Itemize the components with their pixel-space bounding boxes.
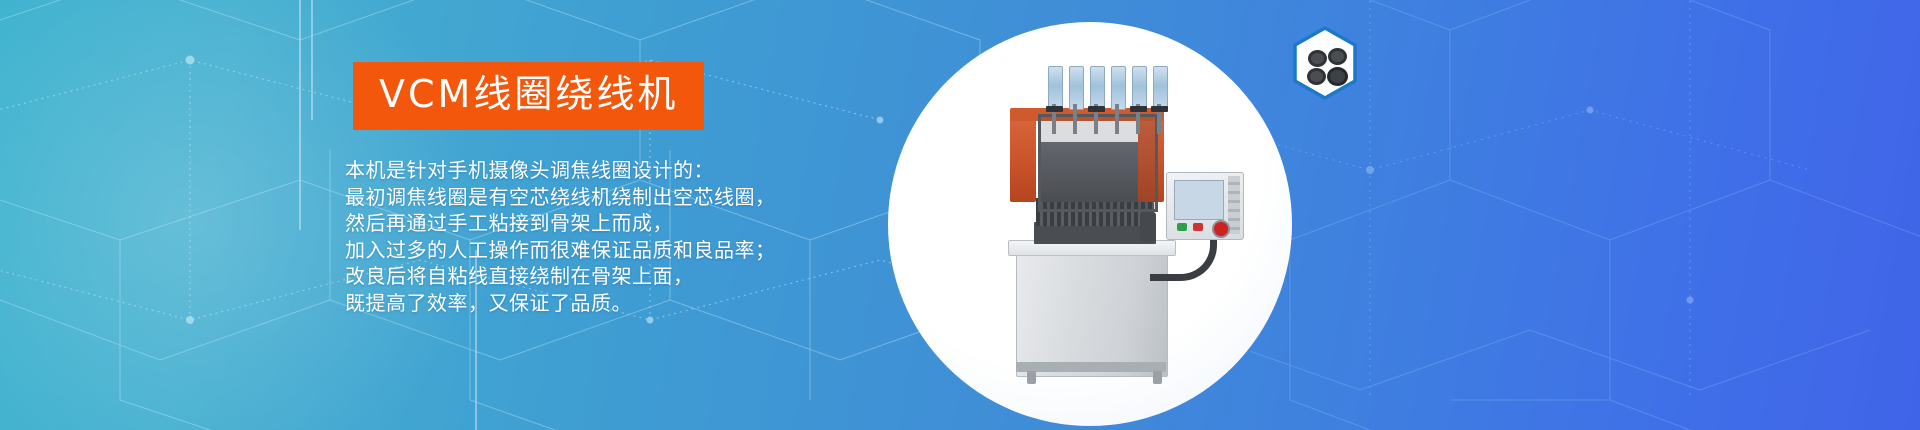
start-button-green xyxy=(1177,223,1187,231)
coil-item xyxy=(1307,68,1326,85)
coil-item xyxy=(1308,50,1327,67)
coil-item xyxy=(1327,67,1348,86)
description-line-6: 既提高了效率，又保证了品质。 xyxy=(345,290,905,317)
machine-cabinet-base xyxy=(1016,362,1166,372)
coil-item xyxy=(1328,48,1347,65)
product-description: 本机是针对手机摄像头调焦线圈设计的： 最初调焦线圈是有空芯绕线机绕制出空芯线圈，… xyxy=(345,157,905,316)
promo-banner: VCM线圈绕线机 本机是针对手机摄像头调焦线圈设计的： 最初调焦线圈是有空芯绕线… xyxy=(0,0,1920,430)
machine-arm xyxy=(1140,212,1156,242)
spool-clamp xyxy=(1151,106,1168,112)
page-title: VCM线圈绕线机 xyxy=(379,71,678,117)
coil-product-badge xyxy=(1292,26,1358,100)
description-line-2: 最初调焦线圈是有空芯绕线机绕制出空芯线圈， xyxy=(345,184,905,211)
description-line-1: 本机是针对手机摄像头调焦线圈设计的： xyxy=(345,157,905,184)
spool-clamp xyxy=(1130,106,1147,112)
control-panel-screen xyxy=(1174,180,1224,220)
machine-foot-left xyxy=(1027,371,1036,384)
product-photo xyxy=(888,22,1292,426)
machine-post-left xyxy=(1010,118,1036,202)
machine-winding-frame xyxy=(1038,114,1158,212)
spool-rod xyxy=(1073,104,1077,134)
machine-foot-right xyxy=(1153,371,1162,384)
spool-rod xyxy=(1115,104,1119,134)
stop-button-red xyxy=(1193,223,1203,231)
description-line-4: 加入过多的人工操作而很难保证品质和良品率； xyxy=(345,237,905,264)
description-line-5: 改良后将自粘线直接绕制在骨架上面， xyxy=(345,263,905,290)
emergency-stop-icon xyxy=(1212,220,1230,238)
product-title-box: VCM线圈绕线机 xyxy=(353,62,704,130)
description-line-3: 然后再通过手工粘接到骨架上而成， xyxy=(345,210,905,237)
machine-cabinet xyxy=(1016,250,1168,377)
spool-clamp xyxy=(1046,106,1063,112)
spool-clamp xyxy=(1088,106,1105,112)
control-panel-side-keys xyxy=(1228,176,1240,234)
